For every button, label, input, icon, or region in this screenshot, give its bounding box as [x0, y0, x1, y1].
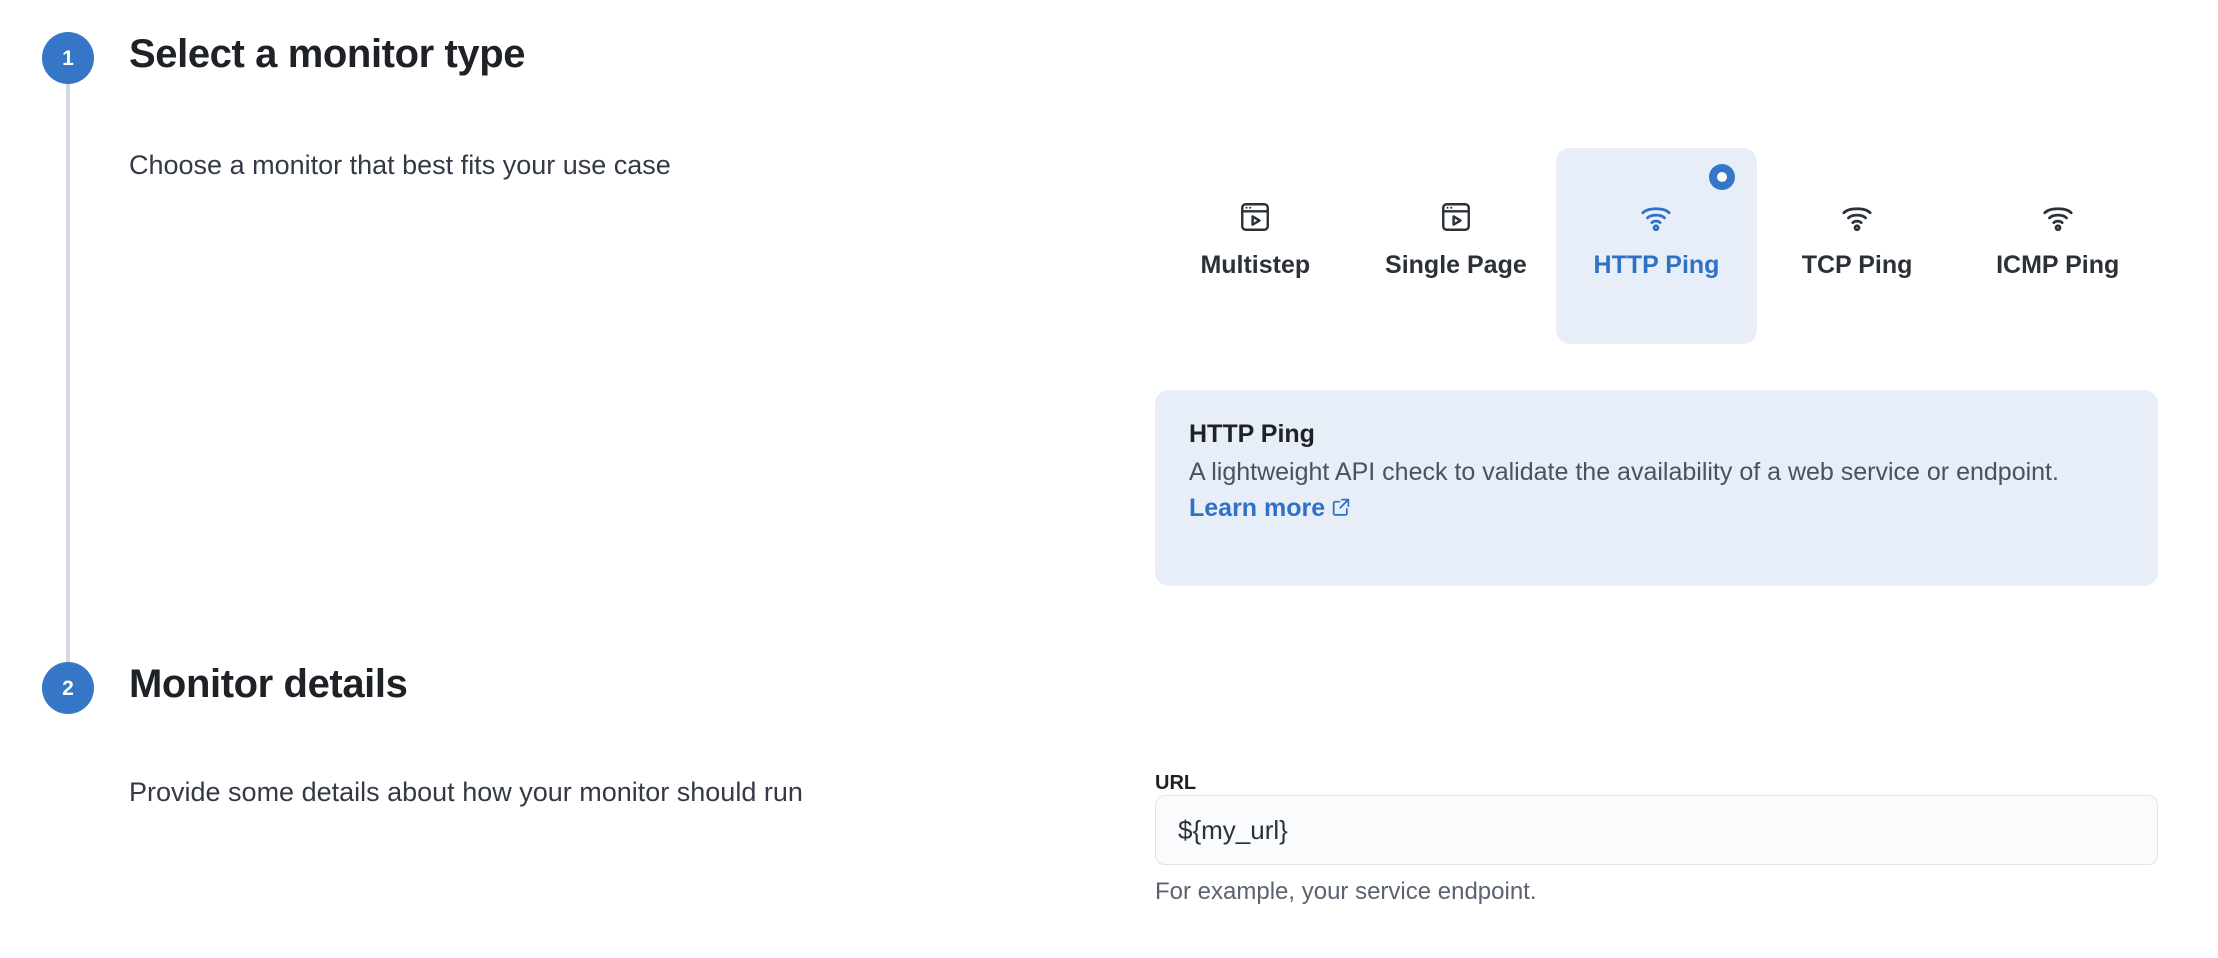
monitor-type-option-icmp-ping[interactable]: ICMP Ping — [1957, 148, 2158, 302]
stepper-connector-line — [66, 68, 70, 698]
step-1-title: Select a monitor type — [129, 32, 525, 77]
info-panel-description-wrapper: A lightweight API check to validate the … — [1189, 455, 2124, 528]
learn-more-link[interactable]: Learn more — [1189, 494, 1352, 522]
monitor-type-label: HTTP Ping — [1594, 251, 1720, 280]
monitor-type-label: Single Page — [1385, 251, 1527, 280]
step-1-number: 1 — [62, 48, 74, 69]
create-monitor-wizard: 1 Select a monitor type Choose a monitor… — [0, 0, 2218, 958]
browser-play-icon — [1439, 194, 1473, 240]
monitor-type-info-panel: HTTP Ping A lightweight API check to val… — [1155, 390, 2158, 586]
wifi-ping-icon — [1839, 194, 1875, 240]
url-field-group: URL For example, your service endpoint. — [1155, 772, 2158, 906]
step-1-subtitle: Choose a monitor that best fits your use… — [129, 150, 671, 181]
monitor-type-option-single-page[interactable]: Single Page — [1356, 148, 1557, 302]
monitor-type-option-multistep[interactable]: Multistep — [1155, 148, 1356, 302]
monitor-type-label: Multistep — [1200, 251, 1310, 280]
browser-play-icon — [1238, 194, 1272, 240]
url-input[interactable] — [1155, 795, 2158, 865]
wifi-ping-icon — [2040, 194, 2076, 240]
url-field-help-text: For example, your service endpoint. — [1155, 878, 2158, 906]
radio-selected-icon[interactable] — [1709, 164, 1735, 190]
monitor-type-option-tcp-ping[interactable]: TCP Ping — [1757, 148, 1958, 302]
step-2-number: 2 — [62, 678, 74, 699]
step-1-badge: 1 — [42, 32, 94, 84]
monitor-type-label: ICMP Ping — [1996, 251, 2119, 280]
learn-more-label: Learn more — [1189, 494, 1325, 522]
step-2-title: Monitor details — [129, 662, 407, 707]
info-panel-description: A lightweight API check to validate the … — [1189, 458, 2059, 486]
step-2-subtitle: Provide some details about how your moni… — [129, 777, 803, 808]
monitor-type-selector: Multistep Single Page — [1155, 148, 2158, 344]
info-panel-title: HTTP Ping — [1189, 420, 2124, 449]
wifi-ping-icon — [1638, 194, 1674, 240]
monitor-type-option-http-ping[interactable]: HTTP Ping — [1556, 148, 1757, 344]
monitor-type-label: TCP Ping — [1802, 251, 1913, 280]
url-field-label: URL — [1155, 772, 1196, 794]
external-link-icon — [1330, 493, 1352, 529]
step-2-badge: 2 — [42, 662, 94, 714]
